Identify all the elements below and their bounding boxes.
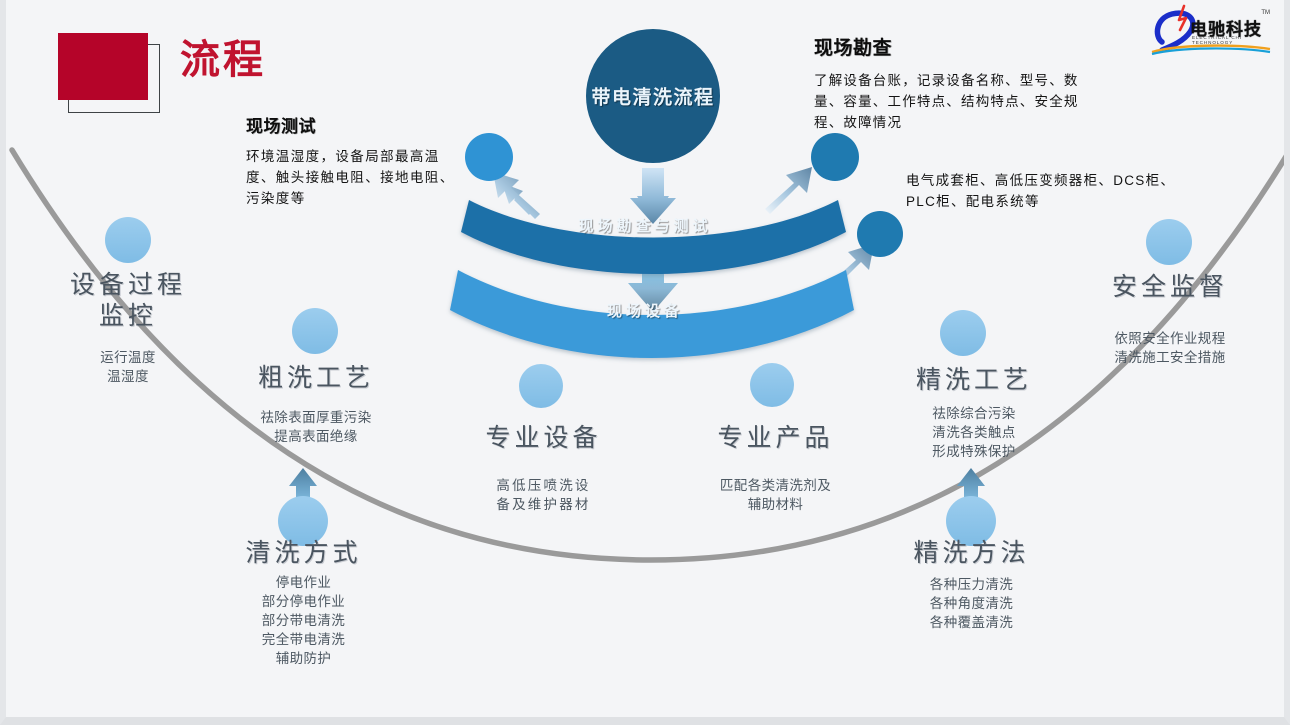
node-device-process-monitor-title-line1: 设备过程	[28, 270, 228, 301]
node-safety-supervision-title: 安全监督	[1074, 272, 1266, 303]
node-professional-equipment-sub-2: 备及维护器材	[446, 495, 641, 514]
callout-site-survey: 现场勘查 了解设备台账，记录设备名称、型号、数量、容量、工作特点、结构特点、安全…	[814, 33, 1104, 133]
branch-cleaning-method-sub-5: 辅助防护	[206, 649, 401, 668]
satellite-dot-right-top	[811, 133, 859, 181]
branch-cleaning-method-title: 清洗方式	[206, 538, 401, 569]
equipment-note-text: 电气成套柜、高低压变频器柜、DCS柜、PLC柜、配电系统等	[906, 170, 1181, 212]
logo-subtitle: ELECTRICAL CHI TECHNOLOGY	[1192, 35, 1276, 45]
page-title: 流程	[180, 40, 266, 80]
slide-canvas: 流程 电驰科技 ELECTRICAL CHI TECHNOLOGY TM 带电清…	[0, 0, 1290, 725]
node-professional-equipment-title: 专业设备	[446, 423, 641, 454]
branch-cleaning-method-sub-1: 停电作业	[206, 573, 401, 592]
arc-band-survey-label: 现场勘查与测试	[6, 215, 1284, 236]
node-fine-wash-process-sub-1: 祛除综合污染	[878, 404, 1070, 423]
branch-fine-wash-method-sub-1: 各种压力清洗	[874, 575, 1069, 594]
node-rough-wash-process-title: 粗洗工艺	[216, 363, 416, 394]
branch-cleaning-method-sub-4: 完全带电清洗	[206, 630, 401, 649]
callout-site-test: 现场测试 环境温湿度，设备局部最高温度、触头接触电阻、接地电阻、污染度等	[246, 112, 461, 209]
node-rough-wash-process-sub-2: 提高表面绝缘	[216, 427, 416, 446]
branch-fine-wash-method-title: 精洗方法	[874, 538, 1069, 569]
arrow-diag-upleft-1	[493, 172, 540, 219]
curve-node-4	[750, 363, 794, 407]
branch-cleaning-method-sub-3: 部分带电清洗	[206, 611, 401, 630]
equipment-note: 电气成套柜、高低压变频器柜、DCS柜、PLC柜、配电系统等	[906, 170, 1181, 212]
callout-site-test-title: 现场测试	[246, 112, 461, 137]
callout-site-test-body: 环境温湿度，设备局部最高温度、触头接触电阻、接地电阻、污染度等	[246, 146, 461, 209]
branch-fine-wash-method-sub-3: 各种覆盖清洗	[874, 613, 1069, 632]
arrow-up-fine-method	[957, 468, 985, 530]
branch-fine-wash-method-sub-2: 各种角度清洗	[874, 594, 1069, 613]
node-device-process-monitor-sub-1: 运行温度	[28, 348, 228, 367]
node-professional-equipment-sub-1: 高低压喷洗设	[446, 476, 641, 495]
node-rough-wash-process-sub-1: 祛除表面厚重污染	[216, 408, 416, 427]
branch-fine-wash-method: 精洗方法 各种压力清洗 各种角度清洗 各种覆盖清洗	[874, 538, 1069, 632]
node-safety-supervision-sub-2: 清洗施工安全措施	[1074, 348, 1266, 367]
callout-site-survey-title: 现场勘查	[814, 33, 1104, 60]
satellite-dot-left	[465, 133, 513, 181]
center-circle-label: 带电清洗流程	[572, 83, 734, 110]
node-professional-product-sub-2: 辅助材料	[678, 495, 873, 514]
logo-trademark: TM	[1261, 10, 1270, 16]
branch-cleaning-method-sub-2: 部分停电作业	[206, 592, 401, 611]
node-device-process-monitor-sub-2: 温湿度	[28, 367, 228, 386]
node-fine-wash-process-title: 精洗工艺	[878, 365, 1070, 396]
arrow-up-cleaning-method	[289, 468, 317, 530]
node-fine-wash-process-sub-2: 清洗各类触点	[878, 423, 1070, 442]
node-device-process-monitor: 设备过程 监控 运行温度 温湿度	[28, 270, 228, 386]
node-rough-wash-process: 粗洗工艺 祛除表面厚重污染 提高表面绝缘	[216, 363, 416, 446]
node-safety-supervision-sub-1: 依照安全作业规程	[1074, 329, 1266, 348]
arrow-diag-upright-2	[827, 244, 874, 291]
node-professional-product: 专业产品 匹配各类清洗剂及 辅助材料	[678, 423, 873, 514]
node-fine-wash-process-sub-3: 形成特殊保护	[878, 442, 1070, 461]
branch-cleaning-method: 清洗方式 停电作业 部分停电作业 部分带电清洗 完全带电清洗 辅助防护	[206, 538, 401, 668]
callout-site-survey-body: 了解设备台账，记录设备名称、型号、数量、容量、工作特点、结构特点、安全规程、故障…	[814, 70, 1104, 133]
center-circle: 带电清洗流程	[586, 29, 720, 163]
arrow-diag-upright-1	[765, 167, 812, 214]
node-professional-product-sub-1: 匹配各类清洗剂及	[678, 476, 873, 495]
curve-node-3	[519, 364, 563, 408]
node-professional-equipment: 专业设备 高低压喷洗设 备及维护器材	[446, 423, 641, 514]
arc-band-survey	[461, 200, 846, 274]
arc-band-equipment-label: 现场设备	[6, 300, 1284, 321]
node-professional-product-title: 专业产品	[678, 423, 873, 454]
node-fine-wash-process: 精洗工艺 祛除综合污染 清洗各类触点 形成特殊保护	[878, 365, 1070, 461]
header-red-rect	[58, 33, 148, 100]
company-logo: 电驰科技 ELECTRICAL CHI TECHNOLOGY TM	[1146, 2, 1276, 56]
